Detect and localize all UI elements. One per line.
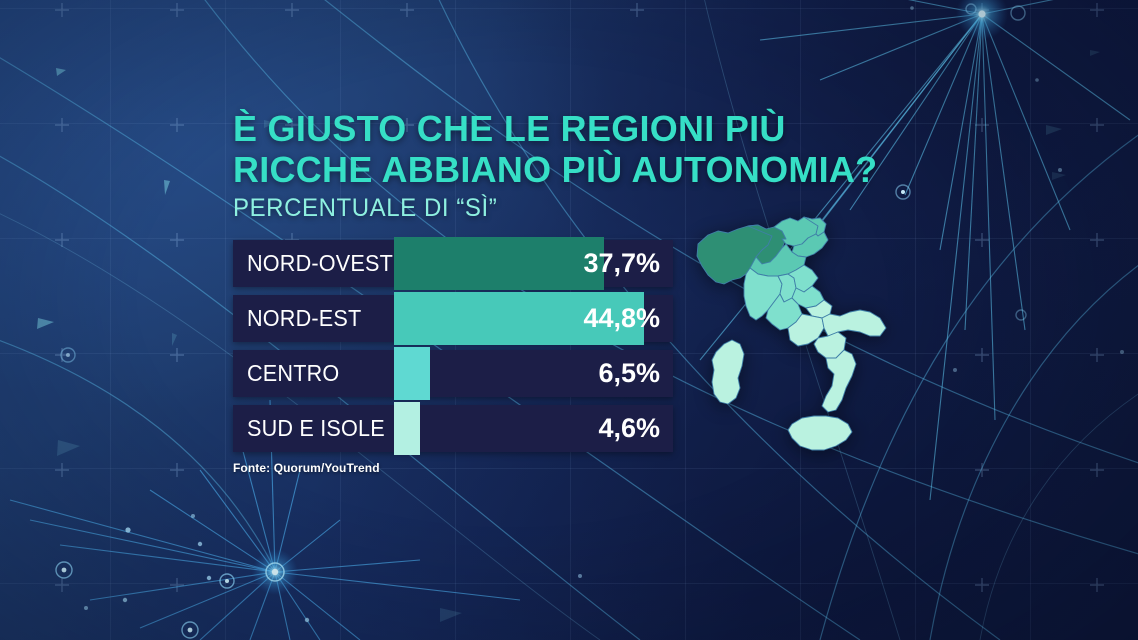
bar-row: CENTRO6,5%	[233, 350, 673, 397]
bar-row: NORD-OVEST37,7%	[233, 240, 673, 287]
bar-fill	[394, 237, 604, 290]
bar-row-value: 44,8%	[583, 295, 660, 342]
bar-row: NORD-EST44,8%	[233, 295, 673, 342]
bar-row: SUD E ISOLE4,6%	[233, 405, 673, 452]
bar-row-value: 4,6%	[598, 405, 660, 452]
map-region-puglia	[822, 310, 886, 336]
map-region-sardegna	[712, 340, 744, 404]
page-title-line-1: È GIUSTO CHE LE REGIONI PIÙ	[233, 108, 942, 149]
bar-row-label: NORD-OVEST	[247, 240, 393, 287]
bar-row-label: NORD-EST	[247, 295, 361, 342]
italy-map	[694, 212, 909, 464]
bar-chart: NORD-OVEST37,7%NORD-EST44,8%CENTRO6,5%SU…	[233, 240, 673, 452]
bar-row-label: CENTRO	[247, 350, 339, 397]
bar-fill	[394, 402, 420, 455]
page-title-line-2: RICCHE ABBIANO PIÙ AUTONOMIA?	[233, 149, 942, 190]
map-region-calabria	[822, 350, 856, 412]
bar-row-value: 37,7%	[583, 240, 660, 287]
map-region-sicilia	[788, 416, 852, 450]
bar-fill	[394, 347, 430, 400]
headline-block: È GIUSTO CHE LE REGIONI PIÙ RICCHE ABBIA…	[233, 108, 953, 223]
bar-row-label: SUD E ISOLE	[247, 405, 385, 452]
source-attribution: Fonte: Quorum/YouTrend	[233, 461, 380, 475]
bar-row-value: 6,5%	[598, 350, 660, 397]
